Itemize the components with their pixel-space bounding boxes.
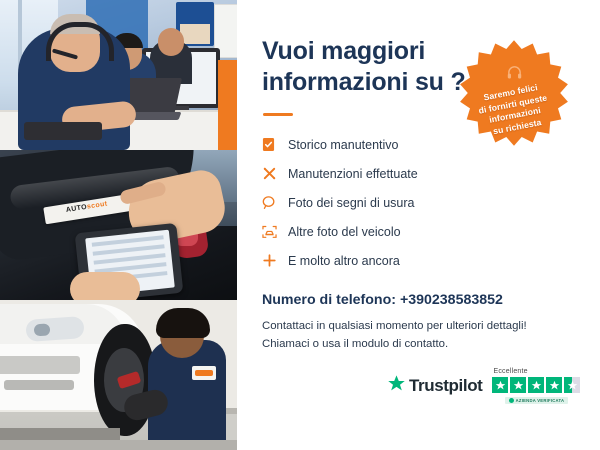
photo-technician-tablet-vehicle-inspection: AUTOscout [0, 150, 237, 300]
photo-column: AUTOscout [0, 0, 237, 450]
list-item-label: Manutenzioni effettuate [288, 167, 418, 181]
list-item-label: Storico manutentivo [288, 138, 398, 152]
list-item: Manutenzioni effettuate [262, 159, 522, 188]
phone-line: Numero di telefono: +390238583852 [262, 292, 503, 308]
star-filled-1 [492, 377, 508, 393]
info-panel: Vuoi maggiori informazioni su ? Saremo f… [237, 0, 600, 450]
plus-icon [262, 253, 288, 268]
tools-cross-icon [262, 166, 288, 181]
list-item-label: Foto dei segni di usura [288, 196, 414, 210]
star-filled-4 [546, 377, 562, 393]
trustpilot-logo: Trustpilot [387, 374, 482, 398]
promo-card: AUTOscout Vuoi maggiori informazioni su … [0, 0, 600, 450]
checklist-icon [262, 137, 288, 152]
photo-mechanic-wheel-service [0, 300, 237, 450]
star-half-5 [564, 377, 580, 393]
contact-line-1: Contattaci in qualsiasi momento per ulte… [262, 318, 562, 336]
verified-check-icon [509, 398, 514, 403]
verified-label: AZIENDA VERIFICATA [516, 398, 565, 403]
star-filled-3 [528, 377, 544, 393]
feature-list: Storico manutentivo Manutenzioni effettu… [262, 130, 522, 275]
list-item: Foto dei segni di usura [262, 188, 522, 217]
title-divider [263, 113, 293, 116]
car-frame-icon [262, 225, 288, 239]
trustpilot-rating: Eccellente AZIENDA VERIFICATA [492, 368, 580, 404]
contact-line-2: Chiamaci o usa il modulo di contatto. [262, 336, 562, 354]
headset-icon [506, 64, 523, 86]
list-item: Storico manutentivo [262, 130, 522, 159]
photo-call-center-agents-with-headsets [0, 0, 237, 150]
list-item: Altre foto del veicolo [262, 217, 522, 246]
trustpilot-widget[interactable]: Trustpilot Eccellente AZIENDA VERIFICATA [387, 368, 580, 404]
verified-company-badge: AZIENDA VERIFICATA [505, 397, 569, 404]
trustpilot-star-icon [387, 374, 406, 398]
star-filled-2 [510, 377, 526, 393]
magnifier-icon [262, 195, 288, 210]
contact-instructions: Contattaci in qualsiasi momento per ulte… [262, 318, 562, 353]
list-item-label: E molto altro ancora [288, 254, 400, 268]
list-item: E molto altro ancora [262, 246, 522, 275]
trustpilot-wordmark: Trustpilot [409, 376, 482, 396]
phone-number[interactable]: +390238583852 [400, 292, 503, 308]
list-item-label: Altre foto del veicolo [288, 225, 401, 239]
star-rating [492, 377, 580, 393]
rating-label: Eccellente [493, 368, 527, 375]
phone-label: Numero di telefono: [262, 292, 400, 308]
